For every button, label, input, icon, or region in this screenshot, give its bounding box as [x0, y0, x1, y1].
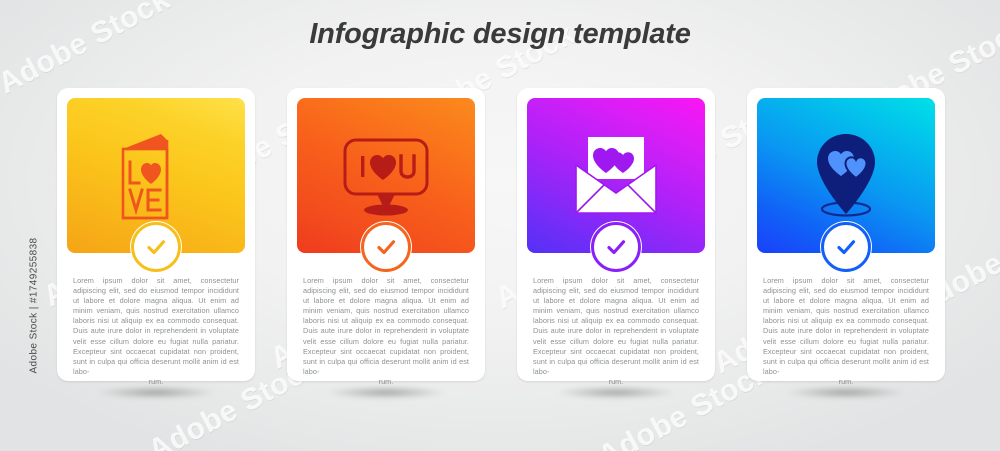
infographic-card[interactable]: Lorem ipsum dolor sit amet, consectetur …: [747, 88, 945, 381]
card-description-text: Lorem ipsum dolor sit amet, consectetur …: [763, 276, 929, 376]
status-check-badge: [590, 221, 642, 273]
card-row: Lorem ipsum dolor sit amet, consectetur …: [0, 88, 1000, 408]
card-surface[interactable]: Lorem ipsum dolor sit amet, consectetur …: [747, 88, 945, 381]
check-icon: [604, 235, 628, 259]
card-description: Lorem ipsum dolor sit amet, consectetur …: [763, 276, 929, 397]
status-check-badge: [130, 221, 182, 273]
card-description: Lorem ipsum dolor sit amet, consectetur …: [303, 276, 469, 397]
card-description: Lorem ipsum dolor sit amet, consectetur …: [73, 276, 239, 397]
card-description-text: Lorem ipsum dolor sit amet, consectetur …: [303, 276, 469, 376]
card-description-text: Lorem ipsum dolor sit amet, consectetur …: [533, 276, 699, 376]
check-icon: [374, 235, 398, 259]
infographic-card[interactable]: Lorem ipsum dolor sit amet, consectetur …: [517, 88, 715, 381]
check-icon: [144, 235, 168, 259]
card-description: Lorem ipsum dolor sit amet, consectetur …: [533, 276, 699, 397]
infographic-canvas: Adobe Stock Adobe Stock Adobe Stock Adob…: [0, 0, 1000, 451]
stock-id-watermark: Adobe Stock | #1749255838: [29, 226, 40, 386]
card-description-lastline: rum.: [533, 377, 699, 387]
card-description-lastline: rum.: [73, 377, 239, 387]
page-title: Infographic design template: [0, 18, 1000, 51]
card-surface[interactable]: Lorem ipsum dolor sit amet, consectetur …: [287, 88, 485, 381]
card-description-text: Lorem ipsum dolor sit amet, consectetur …: [73, 276, 239, 376]
status-check-badge: [820, 221, 872, 273]
infographic-card[interactable]: Lorem ipsum dolor sit amet, consectetur …: [287, 88, 485, 381]
card-surface[interactable]: Lorem ipsum dolor sit amet, consectetur …: [57, 88, 255, 381]
status-check-badge: [360, 221, 412, 273]
check-icon: [834, 235, 858, 259]
infographic-card[interactable]: Lorem ipsum dolor sit amet, consectetur …: [57, 88, 255, 381]
card-description-lastline: rum.: [763, 377, 929, 387]
card-description-lastline: rum.: [303, 377, 469, 387]
card-surface[interactable]: Lorem ipsum dolor sit amet, consectetur …: [517, 88, 715, 381]
